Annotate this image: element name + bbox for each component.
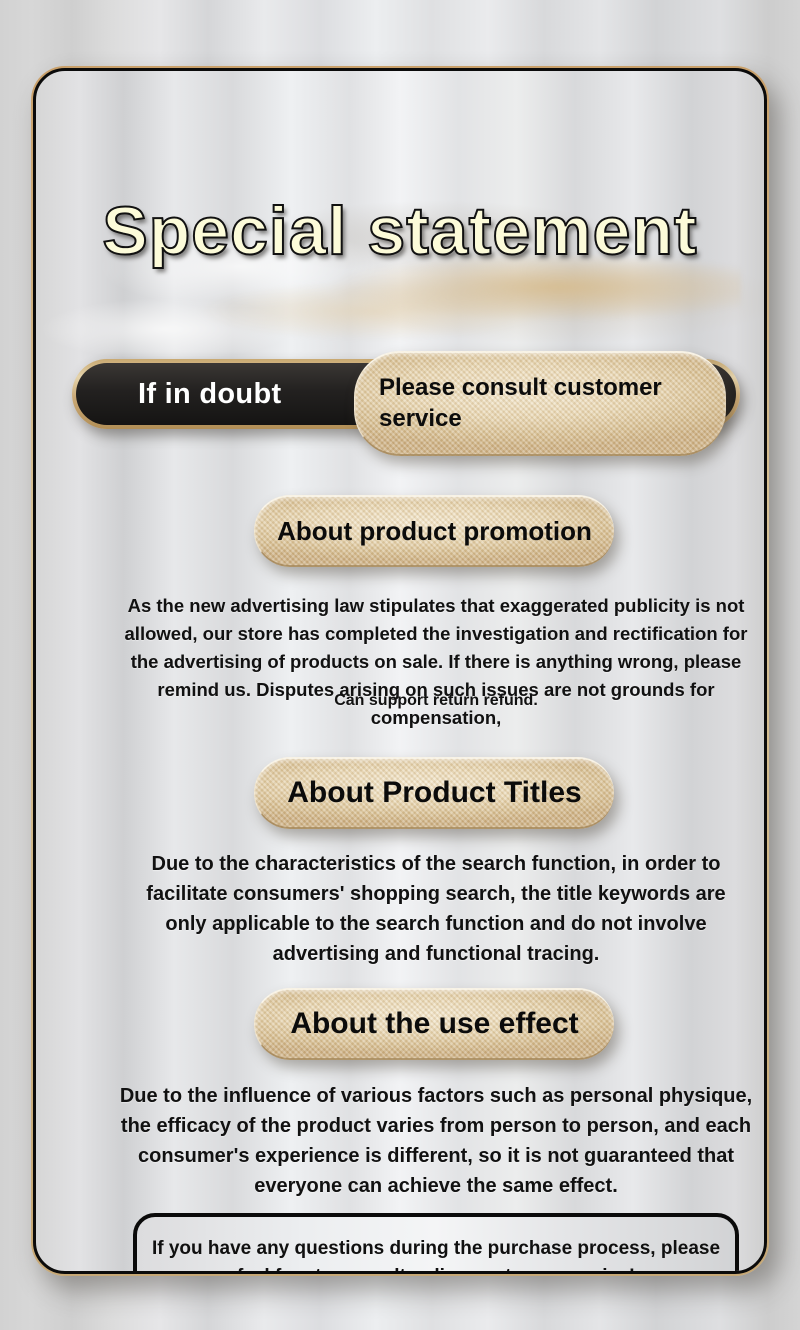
section-pill-label: About Product Titles xyxy=(287,776,581,810)
footer-callout-box: If you have any questions during the pur… xyxy=(133,1213,739,1274)
section-pill-label: About the use effect xyxy=(290,1007,578,1041)
section-pill-label: About product promotion xyxy=(277,516,592,547)
consult-customer-service-label: Please consult customer service xyxy=(379,373,679,434)
section-pill-use-effect: About the use effect xyxy=(254,988,614,1060)
page-title: Special statement xyxy=(36,197,764,265)
doubt-row: If in doubt Please consult customer serv… xyxy=(36,351,764,461)
section-body-product-titles: Due to the characteristics of the search… xyxy=(134,849,738,969)
footer-callout-text: If you have any questions during the pur… xyxy=(137,1235,735,1274)
consult-customer-service-pill: Please consult customer service xyxy=(354,351,726,456)
poster-root: Special statement If in doubt Please con… xyxy=(0,0,800,1330)
section-body-return-refund: Can support return refund. xyxy=(124,689,748,713)
if-in-doubt-label: If in doubt xyxy=(76,378,281,411)
section-pill-product-promotion: About product promotion xyxy=(254,495,614,567)
section-body-use-effect: Due to the influence of various factors … xyxy=(114,1081,758,1201)
poster-frame-inner: Special statement If in doubt Please con… xyxy=(33,68,767,1274)
poster-frame: Special statement If in doubt Please con… xyxy=(31,66,769,1276)
section-pill-product-titles: About Product Titles xyxy=(254,757,614,829)
